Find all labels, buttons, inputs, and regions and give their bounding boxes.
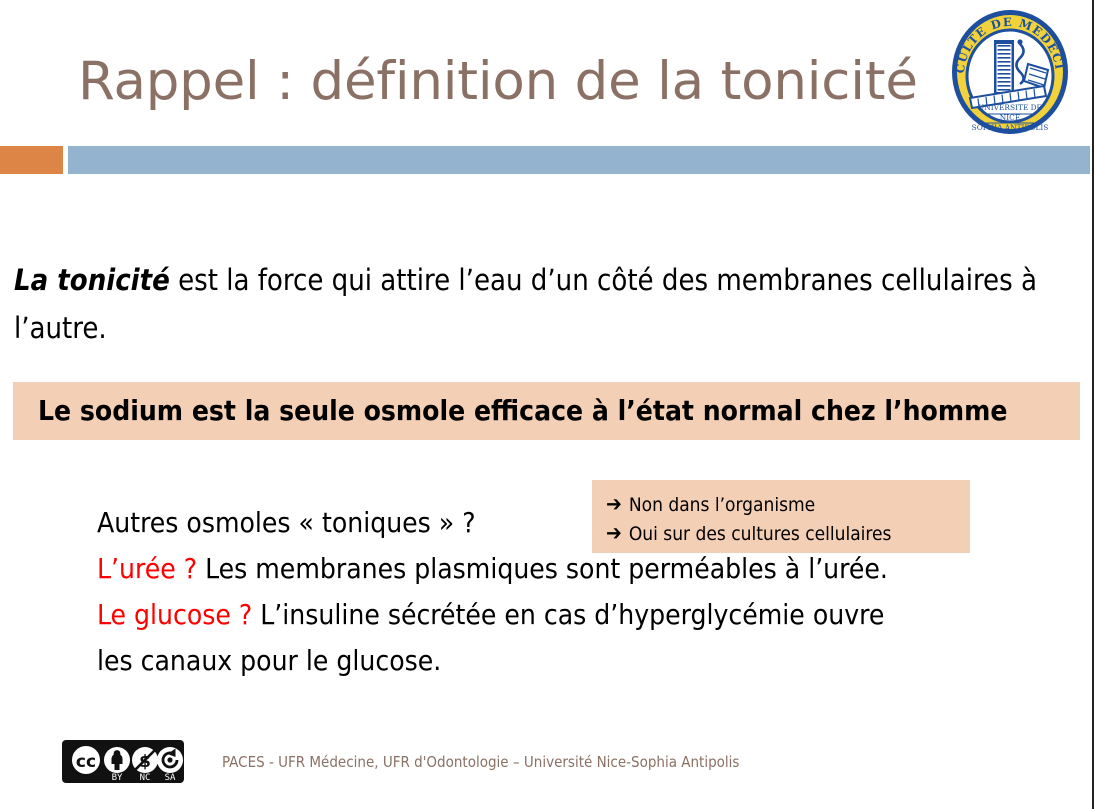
question-glucose-label: Le glucose ? <box>97 598 252 631</box>
list-item: L’urée ? Les membranes plasmiques sont p… <box>97 546 1017 592</box>
list-item: Autres osmoles « toniques » ? <box>97 500 1017 546</box>
question-glucose-answer-cont: les canaux pour le glucose. <box>97 644 441 677</box>
svg-text:UNIVERSITE DE: UNIVERSITE DE <box>978 103 1042 112</box>
footer-credit: PACES - UFR Médecine, UFR d'Odontologie … <box>222 752 739 772</box>
svg-text:BY: BY <box>112 773 123 783</box>
page-title: Rappel : définition de la tonicité <box>78 44 958 120</box>
university-seal-logo: FACULTE DE MEDECINE <box>944 6 1076 138</box>
question-glucose-answer: L’insuline sécrétée en cas d’hyperglycém… <box>252 598 884 631</box>
svg-text:SA: SA <box>165 773 176 783</box>
svg-text:NC: NC <box>140 773 151 783</box>
osmole-question-list: Autres osmoles « toniques » ? L’urée ? L… <box>97 500 1017 684</box>
key-statement-band: Le sodium est la seule osmole efficace à… <box>13 382 1080 440</box>
list-item: Le glucose ? L’insuline sécrétée en cas … <box>97 592 1017 638</box>
svg-text:SOPHIA ANTIPOLIS: SOPHIA ANTIPOLIS <box>972 123 1049 132</box>
question-urea-label: L’urée ? <box>97 552 197 585</box>
intro-lead-term: La tonicité <box>14 263 170 297</box>
intro-paragraph: La tonicité est la force qui attire l’ea… <box>14 256 1076 352</box>
slide-canvas: Rappel : définition de la tonicité FACUL… <box>0 0 1094 809</box>
svg-text:NICE: NICE <box>1000 113 1020 122</box>
creative-commons-license-icon: cc $ BY NC SA <box>62 740 184 783</box>
list-line-1-text: Autres osmoles « toniques » ? <box>97 506 476 539</box>
key-statement-text: Le sodium est la seule osmole efficace à… <box>38 382 1007 440</box>
question-urea-answer: Les membranes plasmiques sont perméables… <box>197 552 888 585</box>
header-rule-blue <box>68 146 1090 174</box>
svg-text:cc: cc <box>76 752 96 772</box>
list-item: les canaux pour le glucose. <box>97 638 1017 684</box>
header-rule-orange <box>0 146 63 174</box>
